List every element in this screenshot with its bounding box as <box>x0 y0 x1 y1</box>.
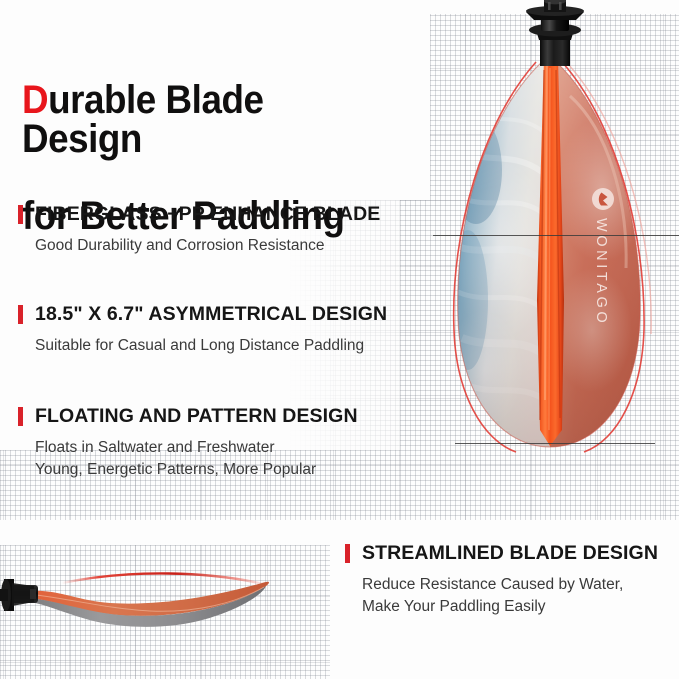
feature-title-row: 18.5" X 6.7" ASYMMETRICAL DESIGN <box>18 303 387 326</box>
infographic-canvas: WONITAGO <box>0 0 679 679</box>
feature-body: Good Durability and Corrosion Resistance <box>35 235 380 257</box>
feature-title: 18.5" X 6.7" ASYMMETRICAL DESIGN <box>35 303 387 326</box>
feature-title-row: STREAMLINED BLADE DESIGN <box>345 542 658 565</box>
bullet-marker-icon <box>345 544 350 563</box>
feature-body: Reduce Resistance Caused by Water, Make … <box>362 574 658 618</box>
bullet-marker-icon <box>18 205 23 224</box>
paddle-blade-front-view: WONITAGO <box>432 0 679 470</box>
feature-title: STREAMLINED BLADE DESIGN <box>362 542 658 565</box>
feature-body: Floats in Saltwater and Freshwater Young… <box>35 437 358 481</box>
bullet-marker-icon <box>18 407 23 426</box>
measure-line-bottom <box>455 443 655 444</box>
title-line-1-rest: urable Blade Design <box>22 78 263 161</box>
feature-floating: FLOATING AND PATTERN DESIGN Floats in Sa… <box>18 405 358 481</box>
feature-asymmetrical: 18.5" X 6.7" ASYMMETRICAL DESIGN Suitabl… <box>18 303 387 357</box>
paddle-ferrule <box>526 0 584 66</box>
paddle-blade-side-view <box>0 545 330 655</box>
title-drop-cap: D <box>22 78 48 122</box>
feature-body: Suitable for Casual and Long Distance Pa… <box>35 335 387 357</box>
feature-streamlined: STREAMLINED BLADE DESIGN Reduce Resistan… <box>345 542 658 618</box>
bullet-marker-icon <box>18 305 23 324</box>
brand-logo-icon <box>592 188 614 210</box>
side-ferrule <box>0 579 38 611</box>
feature-title: FIBERGLASS +PP ENHANCE BLADE <box>35 203 380 226</box>
measure-line-top <box>433 235 679 236</box>
feature-fiberglass: FIBERGLASS +PP ENHANCE BLADE Good Durabi… <box>18 203 380 257</box>
feature-title-row: FIBERGLASS +PP ENHANCE BLADE <box>18 203 380 226</box>
feature-title: FLOATING AND PATTERN DESIGN <box>35 405 358 428</box>
feature-title-row: FLOATING AND PATTERN DESIGN <box>18 405 358 428</box>
curvature-reference-arc <box>62 573 268 585</box>
